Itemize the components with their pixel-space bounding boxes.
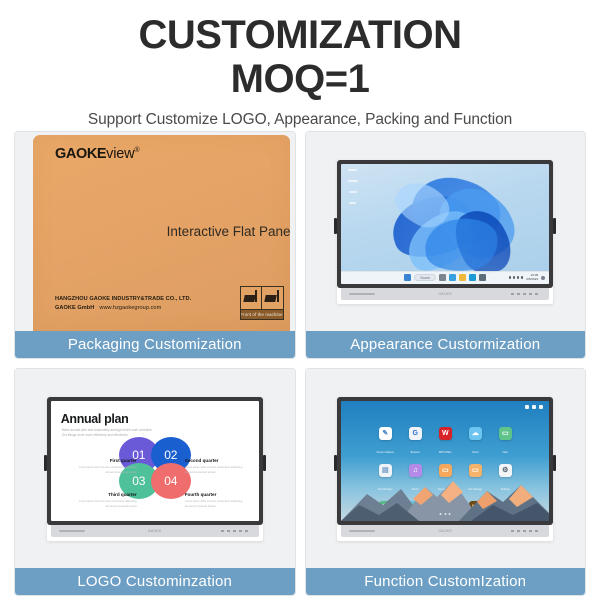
taskbar-tray[interactable]: 10:06 2/5/2024 <box>509 274 546 282</box>
android-home-screen: ✎Screen CaptureGBrowserWWPS Office☁Cloud… <box>341 401 549 521</box>
browser-icon[interactable]: G <box>409 427 422 440</box>
app-label: WPS Office <box>439 451 452 454</box>
company-line-2-wrap: GAOKE GmbHwww.hzgaokegroup.com <box>55 304 191 314</box>
carton-product-name: Interactive Flat Panel <box>167 224 290 239</box>
windows-desktop-icons[interactable] <box>346 168 359 205</box>
panel-bezel: ✎Screen CaptureGBrowserWWPS Office☁Cloud… <box>337 397 553 525</box>
panel-brand-chin: GAOKE <box>148 529 162 533</box>
page-dot[interactable] <box>449 513 451 515</box>
packaging-stage: GAOKEview® Interactive Flat Panel HANGZH… <box>15 132 295 331</box>
panel-bezel: Annual plan Make annual plan and reasona… <box>47 397 263 525</box>
app-cloud[interactable]: ☁Cloud <box>462 427 488 458</box>
page-title-line1: CUSTOMIZATION <box>0 14 600 57</box>
carton-company-info: HANGZHOU GAOKE INDUSTRY&TRADE CO., LTD. … <box>55 295 191 314</box>
caption-function: Function CustomIzation <box>306 568 586 595</box>
windows-bloom-wallpaper <box>382 167 508 271</box>
panel-brand-chin: GAOKE <box>438 529 452 533</box>
interactive-flat-panel-slide: Annual plan Make annual plan and reasona… <box>47 397 263 541</box>
gaokeview-logo: GAOKEview® <box>55 146 139 162</box>
card-packaging[interactable]: GAOKEview® Interactive Flat Panel HANGZH… <box>14 131 296 359</box>
page-header: CUSTOMIZATION MOQ=1 Support Customize LO… <box>0 0 600 129</box>
app-label: Note <box>503 451 508 454</box>
page-dot[interactable] <box>444 513 446 515</box>
chat-icon[interactable] <box>449 274 456 281</box>
taskbar-search-box[interactable]: Search <box>414 274 436 281</box>
customization-card-grid: GAOKEview® Interactive Flat Panel HANGZH… <box>14 131 586 596</box>
quarter-heading: Third quarter <box>77 492 137 497</box>
quarter-body: Lorem ipsum dolor sit amet consectetur a… <box>185 499 245 509</box>
taskbar-pinned-apps[interactable] <box>439 274 486 281</box>
windows-desktop-screen: Search 10:06 2/5/2024 <box>341 164 549 284</box>
company-website: www.hzgaokegroup.com <box>99 305 161 311</box>
page-dot[interactable] <box>440 513 442 515</box>
card-appearance[interactable]: Search 10:06 2/5/2024 <box>305 131 587 359</box>
quarter-heading: First quarter <box>77 458 137 463</box>
this-pc-icon[interactable] <box>346 168 359 172</box>
notification-icon[interactable] <box>541 276 545 280</box>
interactive-flat-panel-windows: Search 10:06 2/5/2024 <box>337 160 553 304</box>
quarter-body: Lorem ipsum dolor sit amet consectetur a… <box>77 499 137 509</box>
carton-box: GAOKEview® Interactive Flat Panel HANGZH… <box>33 135 290 331</box>
taskbar-clock[interactable]: 10:06 2/5/2024 <box>526 274 538 282</box>
panel-side-port-right <box>263 455 266 471</box>
note-icon[interactable]: ▭ <box>499 427 512 440</box>
slide-title: Annual plan <box>61 412 129 426</box>
quarter-label-fourth: Fourth quarter Lorem ipsum dolor sit ame… <box>185 492 245 509</box>
cloud-icon[interactable]: ☁ <box>469 427 482 440</box>
signal-icon <box>532 405 536 409</box>
network-icon[interactable] <box>513 276 516 279</box>
edge-browser-icon[interactable] <box>346 200 359 204</box>
android-status-bar <box>525 405 543 409</box>
folder-icon[interactable] <box>346 189 359 193</box>
company-line-1: HANGZHOU GAOKE INDUSTRY&TRADE CO., LTD. <box>55 295 191 305</box>
taskbar-center-group[interactable]: Search <box>404 274 486 281</box>
panel-side-port-right <box>553 455 556 471</box>
logo-stage: Annual plan Make annual plan and reasona… <box>15 369 295 568</box>
store-icon[interactable] <box>479 274 486 281</box>
caption-logo: LOGO Custominzation <box>15 568 295 595</box>
logo-bold-text: GAOKE <box>55 146 106 162</box>
panel-brand-chin: GAOKE <box>438 292 452 296</box>
app-label: Cloud <box>472 451 479 454</box>
handling-label: Front of the machine <box>241 310 283 319</box>
page-title-line2: MOQ=1 <box>0 57 600 102</box>
explorer-icon[interactable] <box>459 274 466 281</box>
windows-taskbar[interactable]: Search 10:06 2/5/2024 <box>341 271 549 284</box>
chevron-up-icon[interactable] <box>509 276 512 279</box>
app-label: Screen Capture <box>376 451 394 454</box>
panel-side-port-right <box>553 218 556 234</box>
app-label: Browser <box>411 451 420 454</box>
panel-chin: GAOKE <box>51 525 259 537</box>
quarter-body: Lorem ipsum dolor sit amet consectetur a… <box>185 465 245 475</box>
quarter-label-second: Second quarter Lorem ipsum dolor sit ame… <box>185 458 245 475</box>
panel-bezel: Search 10:06 2/5/2024 <box>337 160 553 288</box>
handling-instructions-panel: Front of the machine <box>240 286 284 320</box>
app-browser[interactable]: GBrowser <box>402 427 428 458</box>
card-logo[interactable]: Annual plan Make annual plan and reasona… <box>14 368 296 596</box>
page-subtitle: Support Customize LOGO, Appearance, Pack… <box>0 111 600 129</box>
app-screen-capture[interactable]: ✎Screen Capture <box>372 427 398 458</box>
appearance-stage: Search 10:06 2/5/2024 <box>306 132 586 331</box>
interactive-flat-panel-android: ✎Screen CaptureGBrowserWWPS Office☁Cloud… <box>337 397 553 541</box>
quarter-label-third: Third quarter Lorem ipsum dolor sit amet… <box>77 492 137 509</box>
logo-light-text: view <box>106 146 134 162</box>
quarter-heading: Second quarter <box>185 458 245 463</box>
caption-appearance: Appearance Custormization <box>306 331 586 358</box>
function-stage: ✎Screen CaptureGBrowserWWPS Office☁Cloud… <box>306 369 586 568</box>
presentation-slide-screen: Annual plan Make annual plan and reasona… <box>51 401 259 521</box>
app-note[interactable]: ▭Note <box>492 427 518 458</box>
recycle-bin-icon[interactable] <box>346 178 359 182</box>
panel-chin: GAOKE <box>341 525 549 537</box>
quarter-body: Lorem ipsum dolor sit amet consectetur a… <box>77 465 137 475</box>
panel-orientation-icon <box>262 287 283 310</box>
volume-icon[interactable] <box>517 276 520 279</box>
clock-date: 2/5/2024 <box>526 277 538 281</box>
battery-icon <box>539 405 543 409</box>
panel-chin: GAOKE <box>341 288 549 300</box>
start-icon[interactable] <box>404 274 411 281</box>
battery-icon[interactable] <box>521 276 524 279</box>
wifi-icon <box>525 405 529 409</box>
fragile-handling-icon <box>241 287 262 310</box>
company-line-2: GAOKE GmbH <box>55 305 94 311</box>
registered-mark-icon: ® <box>134 147 139 154</box>
app-wps-office[interactable]: WWPS Office <box>432 427 458 458</box>
edge-icon[interactable] <box>469 274 476 281</box>
card-function[interactable]: ✎Screen CaptureGBrowserWWPS Office☁Cloud… <box>305 368 587 596</box>
quarter-heading: Fourth quarter <box>185 492 245 497</box>
screen-capture-icon[interactable]: ✎ <box>379 427 392 440</box>
tray-icons[interactable] <box>509 276 524 279</box>
wps-office-icon[interactable]: W <box>439 427 452 440</box>
widgets-icon[interactable] <box>439 274 446 281</box>
caption-packaging: Packaging Customization <box>15 331 295 358</box>
android-page-indicator[interactable] <box>440 513 451 515</box>
quarter-label-first: First quarter Lorem ipsum dolor sit amet… <box>77 458 137 475</box>
